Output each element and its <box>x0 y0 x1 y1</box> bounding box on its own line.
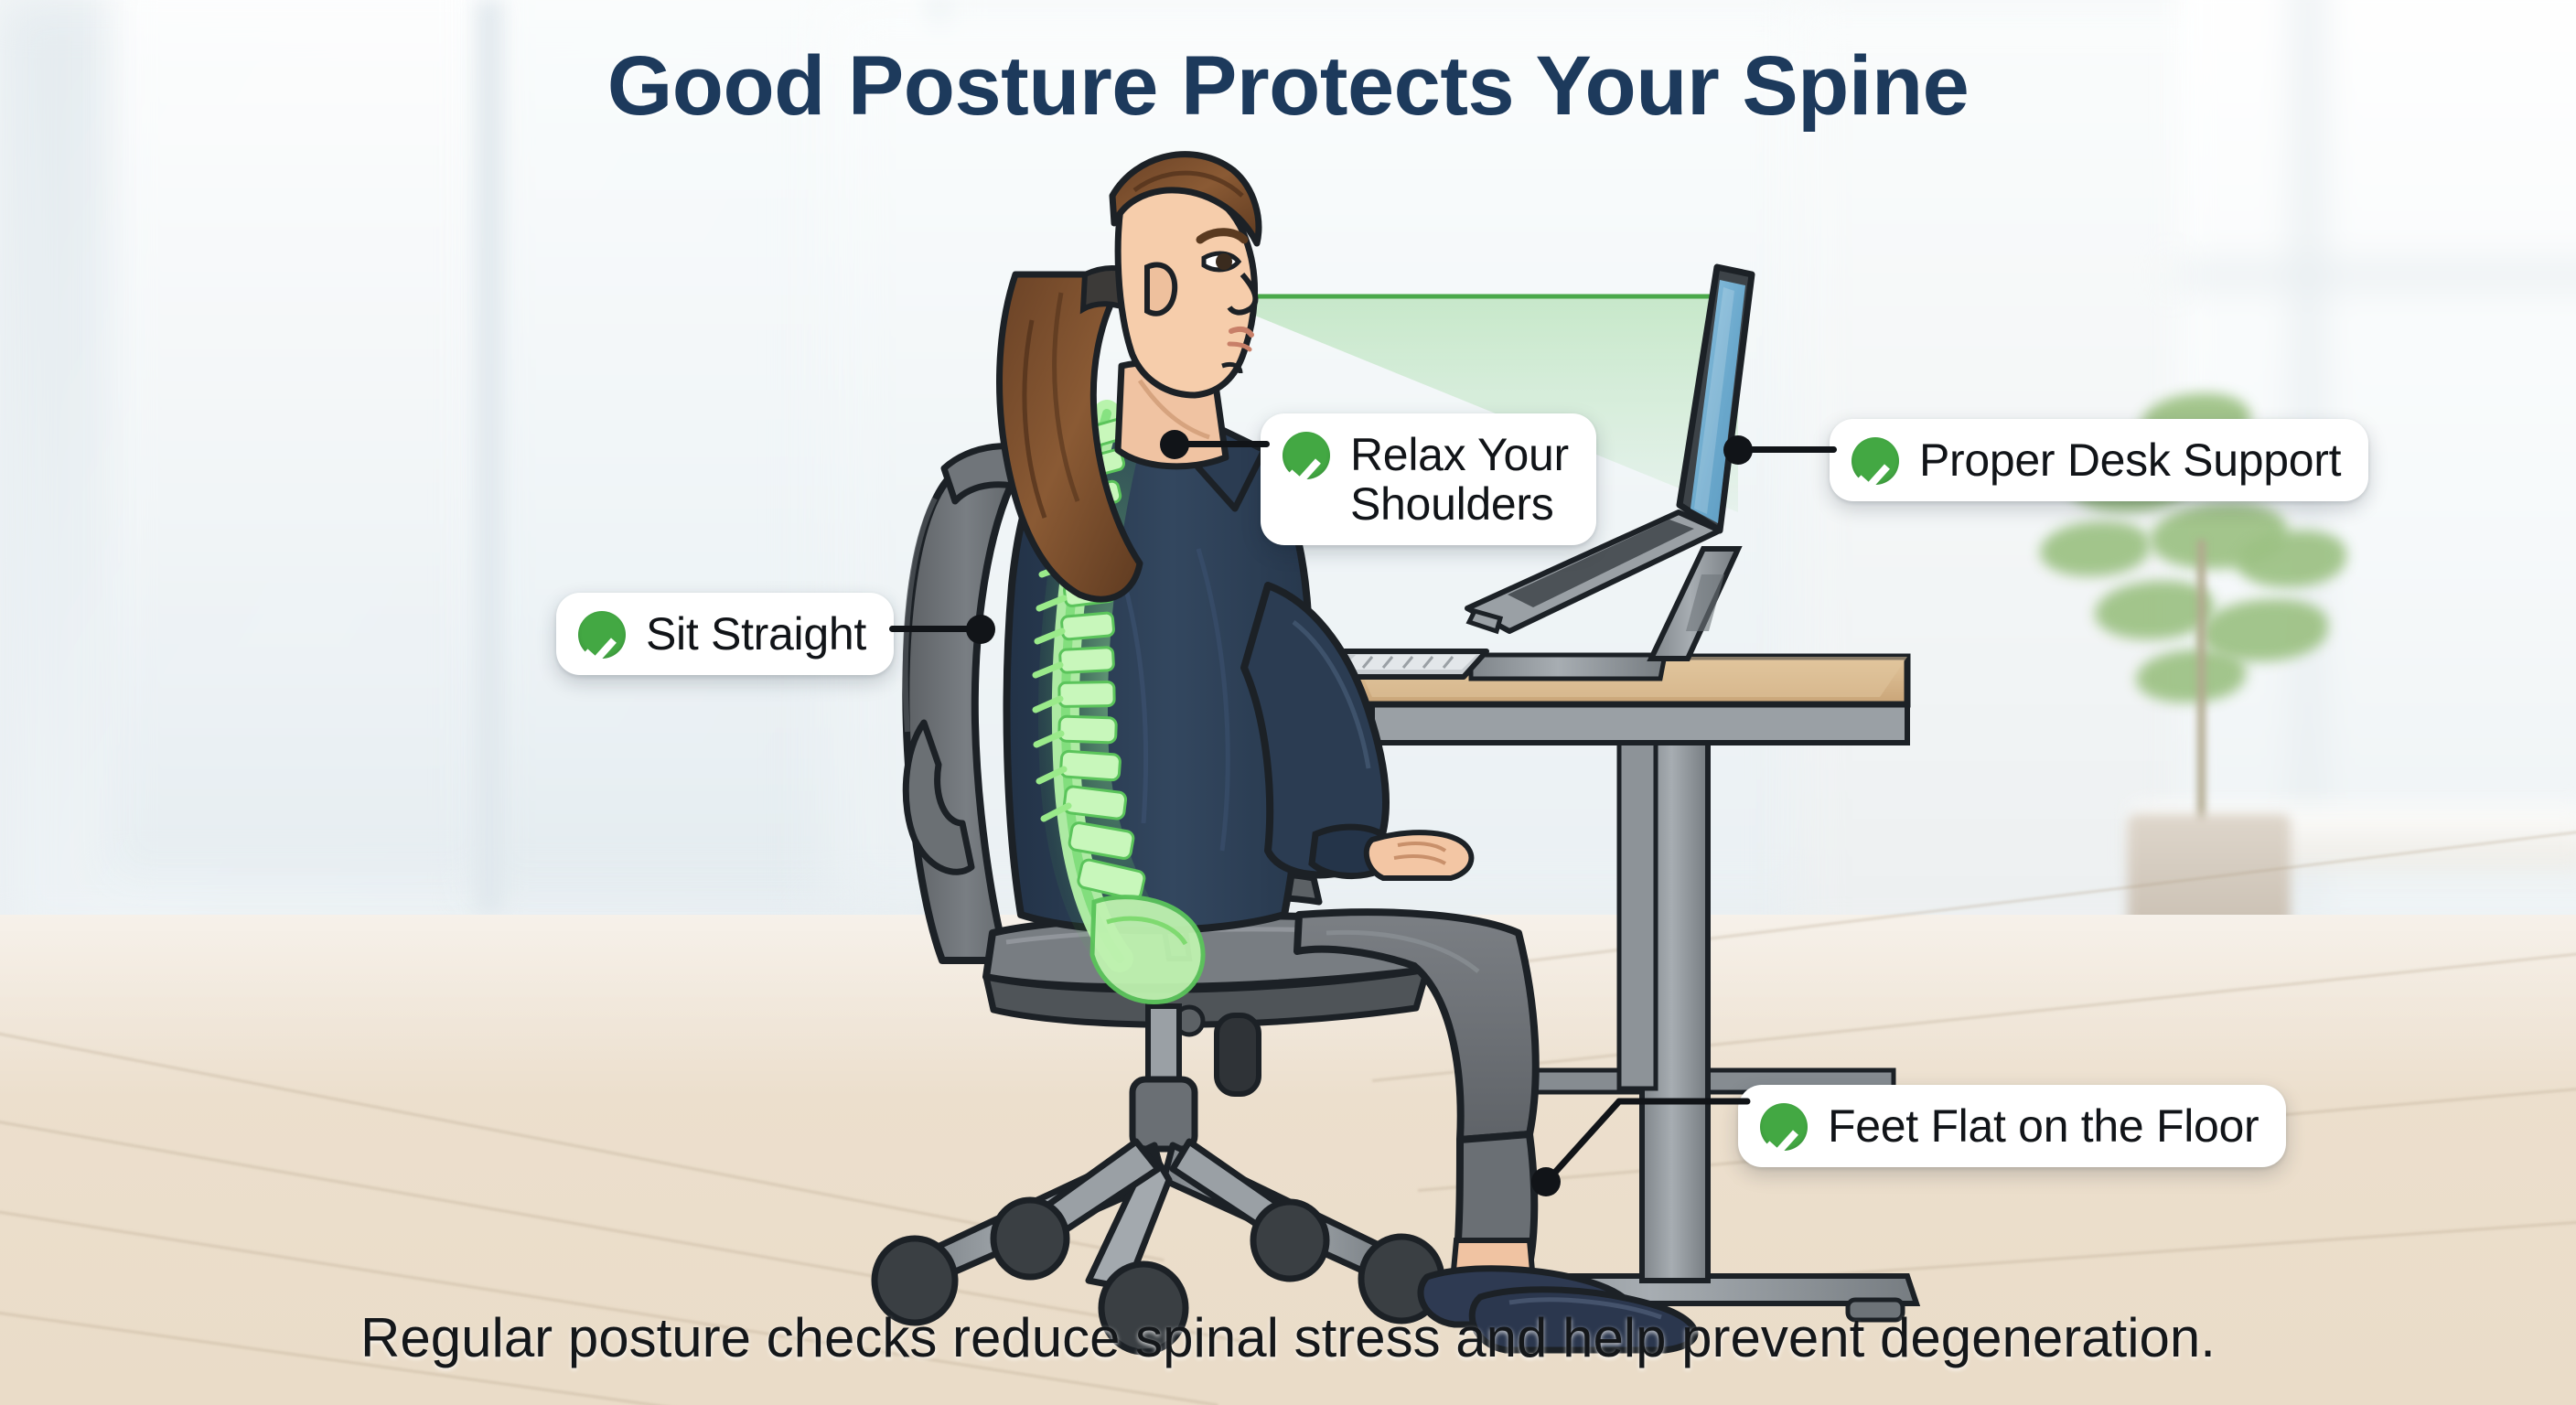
callout-label: Relax Your Shoulders <box>1350 430 1569 529</box>
callout-feet-flat[interactable]: Feet Flat on the Floor <box>1738 1085 2286 1167</box>
callout-label: Sit Straight <box>646 609 866 659</box>
page-caption: Regular posture checks reduce spinal str… <box>0 1306 2576 1369</box>
posture-illustration <box>0 0 2576 1405</box>
leader-line-feet-flat <box>1519 1085 1756 1204</box>
leader-dot-relax-shoulders <box>1160 430 1189 459</box>
check-circle-icon <box>578 611 626 659</box>
callout-sit-straight[interactable]: Sit Straight <box>556 593 894 675</box>
page-title: Good Posture Protects Your Spine <box>0 38 2576 134</box>
callout-proper-desk-support[interactable]: Proper Desk Support <box>1830 419 2368 501</box>
callout-label: Feet Flat on the Floor <box>1828 1101 2259 1151</box>
leader-line-relax-shoulders <box>1186 441 1270 447</box>
leader-dot-proper-desk-support <box>1723 435 1753 465</box>
leader-line-proper-desk-support <box>1749 446 1837 453</box>
check-circle-icon <box>1760 1103 1808 1151</box>
leader-dot-sit-straight <box>966 615 995 644</box>
callout-relax-shoulders[interactable]: Relax Your Shoulders <box>1261 413 1596 545</box>
check-circle-icon <box>1851 437 1899 485</box>
callout-label: Proper Desk Support <box>1919 435 2341 485</box>
infographic-poster: Good Posture Protects Your Spine Regular… <box>0 0 2576 1405</box>
check-circle-icon <box>1283 432 1330 479</box>
